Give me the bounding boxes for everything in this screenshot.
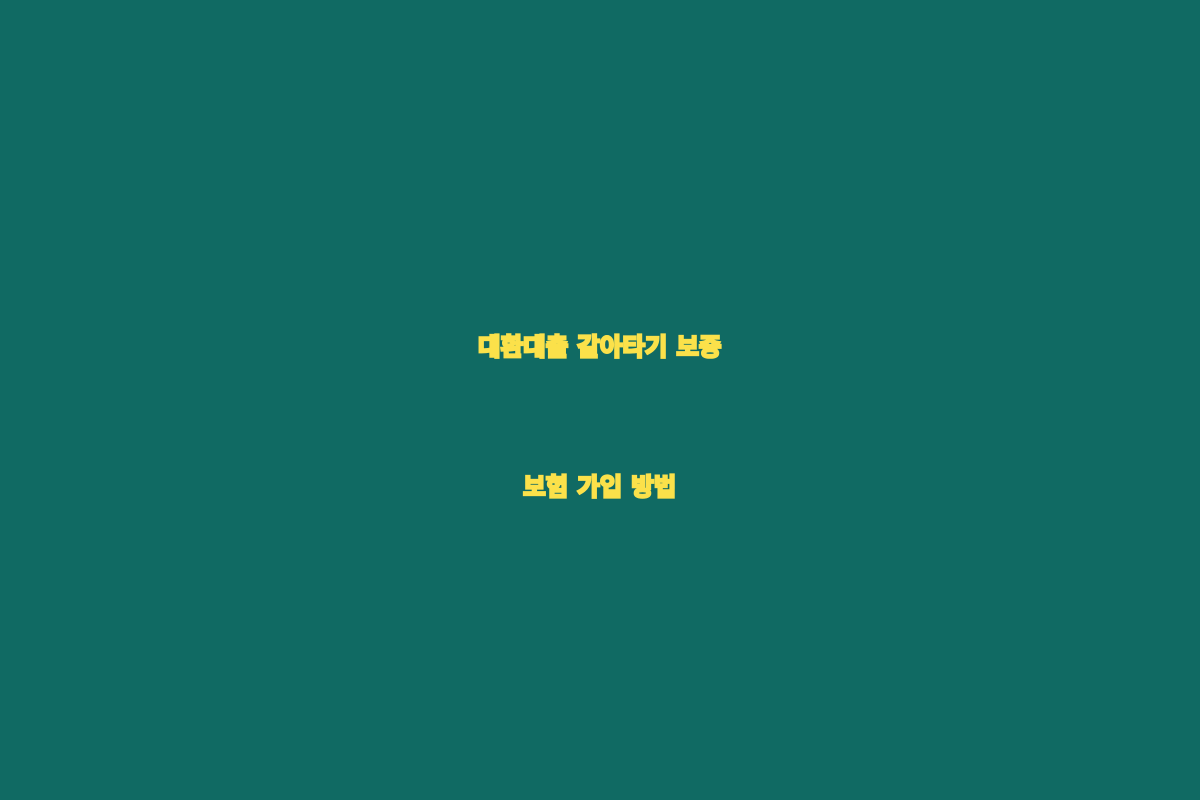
title-card-banner: 대환대출 갈아타기 보증 보험 가입 방법 bbox=[0, 0, 1200, 800]
page-title: 대환대출 갈아타기 보증 보험 가입 방법 bbox=[0, 277, 1200, 557]
title-line-1: 대환대출 갈아타기 보증 bbox=[0, 277, 1200, 417]
title-line-2: 보험 가입 방법 bbox=[0, 417, 1200, 557]
